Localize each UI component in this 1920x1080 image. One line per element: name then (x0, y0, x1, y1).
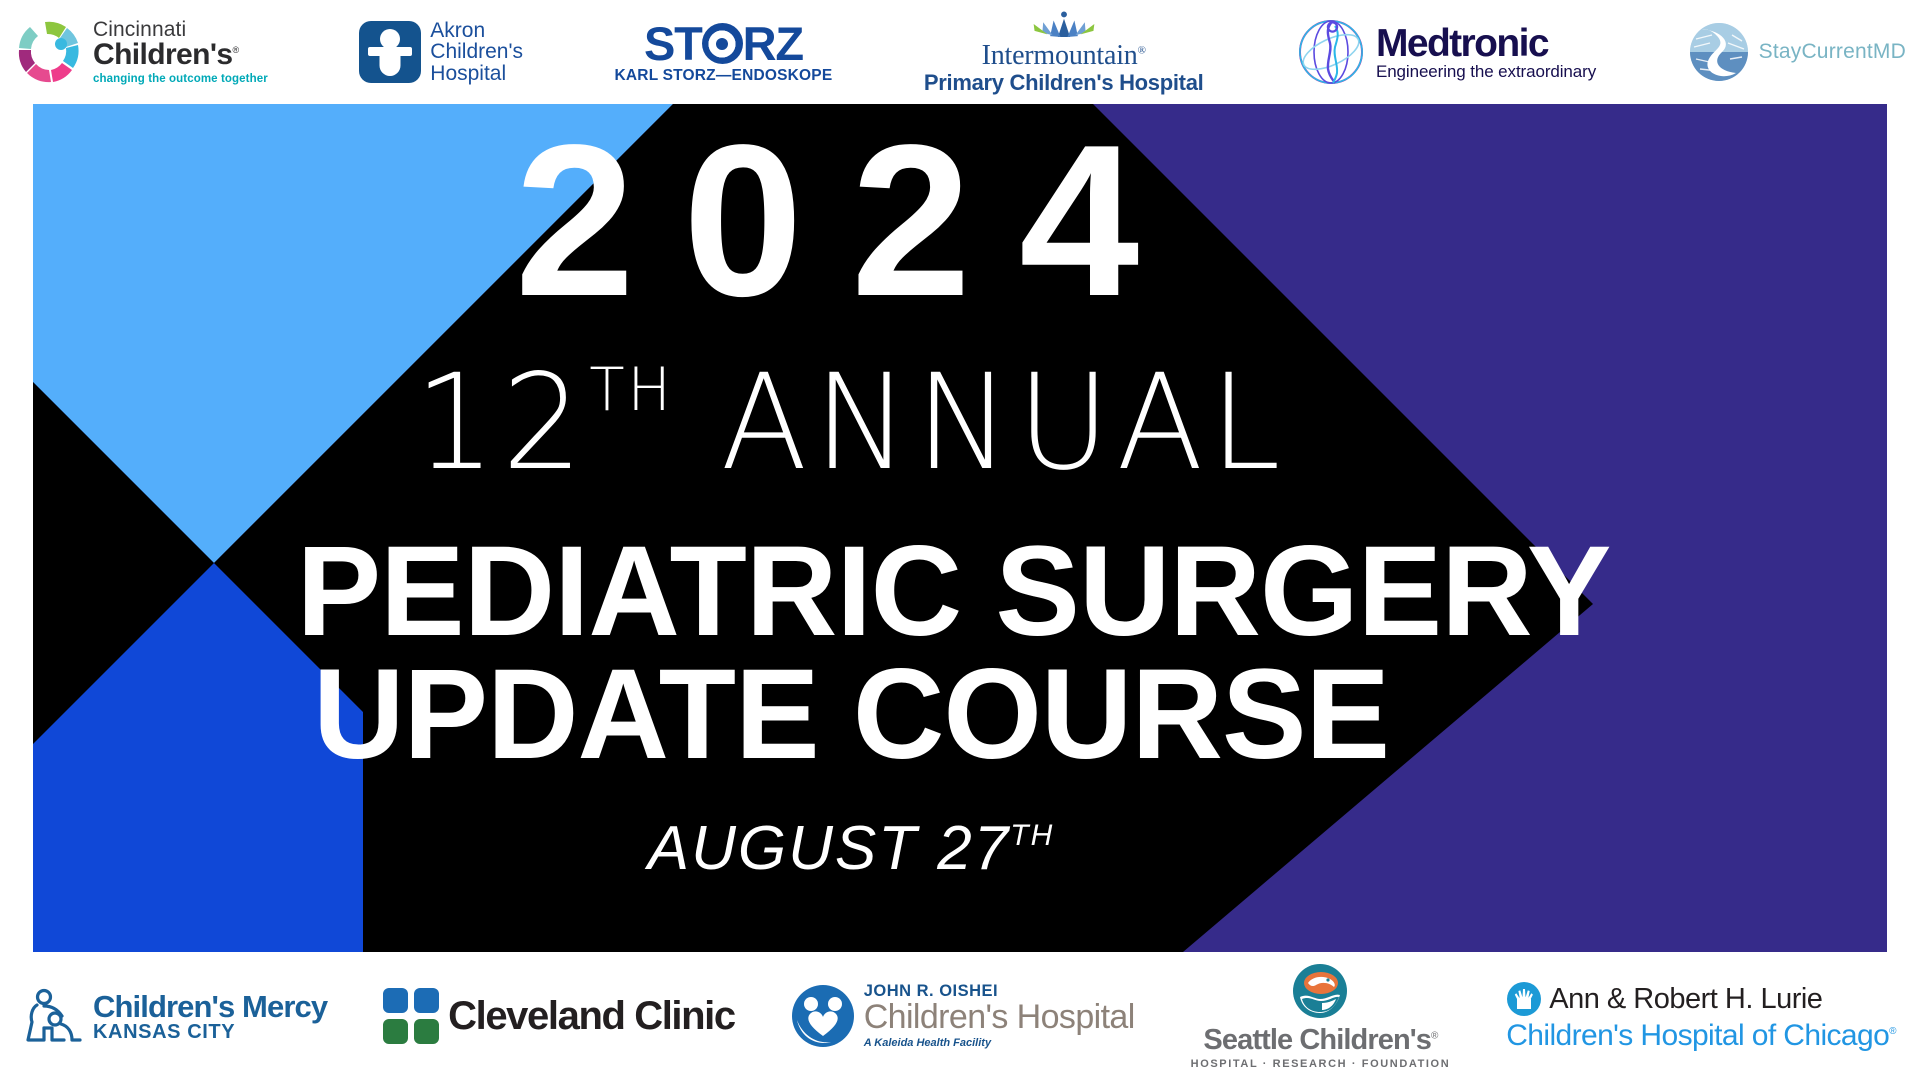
logo-staycurrentmd: StayCurrentMD (1688, 21, 1906, 83)
logo-intermountain-primary-childrens-hospital: Intermountain® Primary Children's Hospit… (924, 11, 1204, 94)
cleveland-clinic-wordmark: Cleveland Clinic (448, 994, 735, 1039)
seattle-childrens-line2: HOSPITAL · RESEARCH · FOUNDATION (1191, 1059, 1451, 1070)
lurie-line2: Children's Hospital of Chicago (1506, 1019, 1889, 1052)
top-sponsor-logo-bar: Cincinnati Children's® changing the outc… (0, 0, 1920, 104)
banner-text-block: 2024 12TH ANNUAL PEDIATRIC SURGERY UPDAT… (33, 104, 1887, 952)
seattle-childrens-line1: Seattle Children's (1203, 1024, 1431, 1056)
logo-karl-storz-endoskope: STRZ KARL STORZ—ENDOSKOPE (615, 20, 833, 84)
date-suffix: TH (1010, 819, 1054, 852)
storz-part-a: ST (644, 17, 702, 70)
banner-date: AUGUST 27TH (291, 818, 1411, 880)
staycurrentmd-wordmark: StayCurrentMD (1759, 40, 1906, 64)
logo-cleveland-clinic: Cleveland Clinic (383, 988, 735, 1044)
intermountain-line1: Intermountain (982, 40, 1138, 71)
medtronic-line1: Medtronic (1376, 22, 1548, 65)
oishei-wordmark: JOHN R. OISHEI Children's Hospital A Kal… (864, 983, 1135, 1050)
childrens-mercy-figures-icon (24, 988, 84, 1044)
seattle-childrens-whale-icon (1292, 963, 1348, 1019)
promotional-banner-page: Cincinnati Children's® changing the outc… (0, 0, 1920, 1080)
bottom-sponsor-logo-bar: Children's Mercy KANSAS CITY Cleveland C… (0, 952, 1920, 1080)
akron-line1: Akron (430, 19, 485, 42)
registered-mark-icon: ® (1431, 1030, 1437, 1041)
medtronic-globe-figure-icon (1295, 16, 1367, 88)
logo-akron-childrens-hospital: Akron Children's Hospital (359, 20, 523, 84)
akron-childrens-figure-icon (359, 21, 421, 83)
logo-childrens-mercy-kansas-city: Children's Mercy KANSAS CITY (24, 988, 327, 1044)
registered-mark-icon: ® (1889, 1026, 1896, 1037)
staycurrentmd-globe-icon (1688, 21, 1750, 83)
cleveland-clinic-squares-icon (383, 988, 439, 1044)
logo-cincinnati-childrens: Cincinnati Children's® changing the outc… (14, 17, 268, 87)
cincinnati-childrens-tagline: changing the outcome together (93, 73, 268, 85)
registered-mark-icon: ® (233, 45, 239, 55)
edition-number: 12 (415, 346, 590, 500)
akron-childrens-wordmark: Akron Children's Hospital (430, 20, 523, 84)
oishei-figures-heart-icon (791, 984, 855, 1048)
karl-storz-subtitle: KARL STORZ—ENDOSKOPE (615, 68, 833, 84)
akron-line2: Children's (430, 40, 523, 63)
lurie-line1: Ann & Robert H. Lurie (1549, 985, 1822, 1014)
banner-title-line-2: UPDATE COURSE (297, 651, 1406, 779)
oishei-line3: A Kaleida Health Facility (864, 1037, 991, 1049)
edition-word: ANNUAL (721, 346, 1288, 500)
storz-part-b: RZ (743, 17, 803, 70)
cincinnati-childrens-pinwheel-icon (14, 17, 84, 87)
cincinnati-childrens-wordmark: Cincinnati Children's® changing the outc… (93, 19, 268, 86)
medtronic-tagline: Engineering the extraordinary (1376, 62, 1596, 81)
lurie-hand-icon (1506, 981, 1542, 1017)
edition-suffix: TH (589, 355, 673, 425)
intermountain-line2: Primary Children's Hospital (924, 72, 1204, 94)
childrens-mercy-line2: KANSAS CITY (93, 1021, 235, 1043)
karl-storz-wordmark: STRZ (615, 20, 833, 67)
logo-medtronic: Medtronic Engineering the extraordinary (1295, 16, 1596, 88)
oishei-line1: JOHN R. OISHEI (864, 982, 998, 1000)
event-banner: 2024 12TH ANNUAL PEDIATRIC SURGERY UPDAT… (33, 104, 1887, 952)
storz-o-target-icon (702, 23, 743, 64)
banner-year: 2024 (291, 112, 1411, 328)
oishei-line2: Children's Hospital (864, 998, 1135, 1036)
banner-title-line-1: PEDIATRIC SURGERY (297, 528, 1406, 656)
logo-ann-robert-h-lurie-childrens-hospital-of-chicago: Ann & Robert H. Lurie Children's Hospita… (1506, 981, 1896, 1051)
banner-edition-line: 12TH ANNUAL (313, 357, 1388, 489)
akron-line3: Hospital (430, 62, 506, 85)
cincinnati-childrens-line2: Children's (93, 38, 233, 71)
childrens-mercy-wordmark: Children's Mercy KANSAS CITY (93, 991, 327, 1042)
logo-seattle-childrens: Seattle Children's® HOSPITAL · RESEARCH … (1191, 963, 1451, 1070)
registered-mark-icon: ® (1138, 44, 1146, 56)
intermountain-figure-icon (1025, 11, 1103, 37)
logo-john-r-oishei-childrens-hospital: JOHN R. OISHEI Children's Hospital A Kal… (791, 983, 1135, 1050)
date-text: AUGUST 27 (648, 814, 1011, 883)
medtronic-wordmark: Medtronic Engineering the extraordinary (1376, 24, 1596, 81)
childrens-mercy-line1: Children's Mercy (93, 989, 327, 1024)
